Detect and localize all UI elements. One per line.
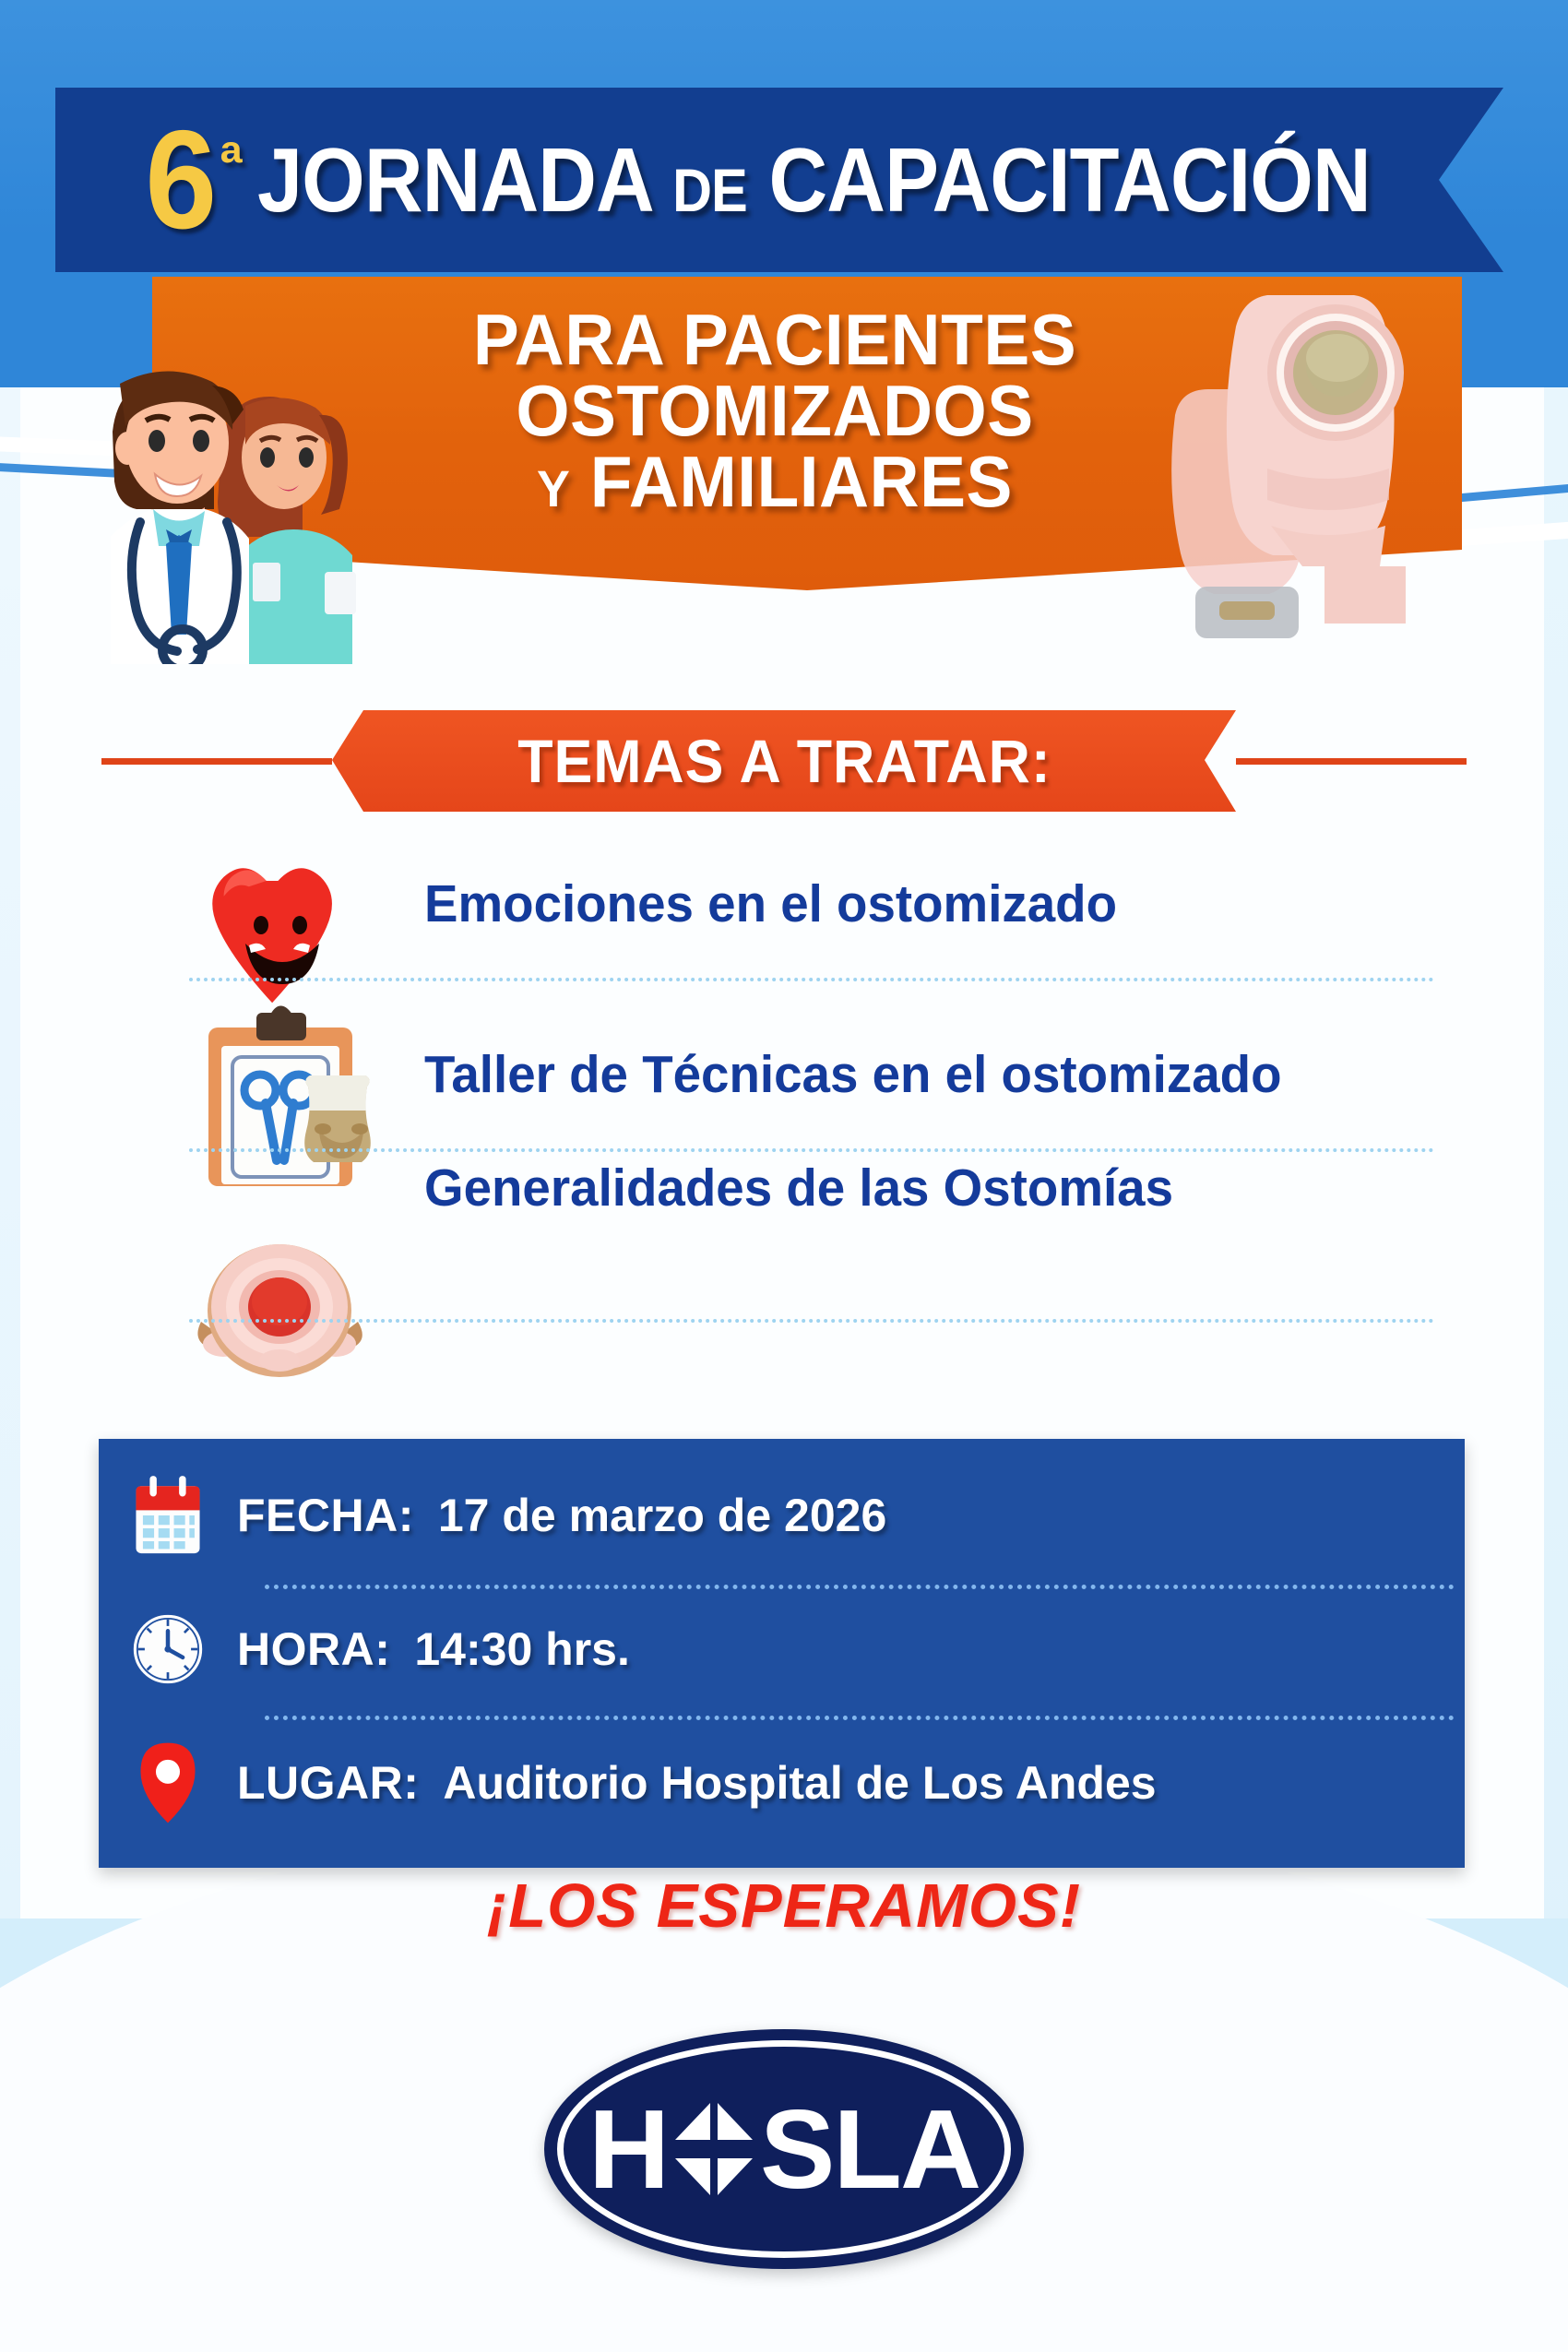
- detail-value-time: 14:30 hrs.: [414, 1622, 629, 1676]
- pinwheel-cross-icon: [670, 2101, 758, 2197]
- ribbon-line-left: [101, 758, 332, 765]
- topics-ribbon-row: TEMAS A TRATAR:: [0, 710, 1568, 812]
- calendar-icon: [99, 1474, 237, 1557]
- header-banner: 6 ª JORNADA DE CAPACITACIÓN: [55, 88, 1503, 272]
- doctor-and-nurse-illustration: [55, 277, 378, 664]
- logo-text-before: H: [588, 2085, 668, 2214]
- detail-label-date: FECHA:: [237, 1489, 414, 1542]
- divider: [189, 978, 1434, 981]
- title-end: CAPACITACIÓN: [768, 129, 1370, 231]
- detail-row-time: HORA: 14:30 hrs.: [99, 1582, 1465, 1716]
- location-pin-icon: [99, 1740, 237, 1826]
- detail-label-place: LUGAR:: [237, 1756, 419, 1810]
- divider: [189, 1148, 1434, 1152]
- detail-value-date: 17 de marzo de 2026: [438, 1489, 886, 1542]
- divider: [189, 1319, 1434, 1323]
- subtitle-line-2: OSTOMIZADOS: [447, 375, 1102, 446]
- clipboard-scissors-icon: [184, 1005, 397, 1181]
- clock-icon: [99, 1610, 237, 1689]
- subtitle-line-3-prefix: Y: [537, 459, 570, 517]
- ordinal-suffix: ª: [220, 133, 243, 194]
- ordinal-number: 6: [145, 120, 217, 241]
- subtitle-text: PARA PACIENTES OSTOMIZADOS Y FAMILIARES: [434, 304, 1116, 518]
- list-item-label: Generalidades de las Ostomías: [424, 1158, 1173, 1218]
- topics-ribbon: TEMAS A TRATAR:: [332, 710, 1236, 812]
- topics-list: Emociones en el ostomizado: [0, 835, 1568, 1425]
- list-item-label: Taller de Técnicas en el ostomizado: [424, 1044, 1282, 1105]
- list-item: Generalidades de las Ostomías: [184, 1176, 1439, 1356]
- stoma-icon: [184, 1222, 397, 1397]
- list-item: Emociones en el ostomizado: [184, 835, 1439, 1015]
- subtitle-line-1: PARA PACIENTES: [447, 304, 1102, 375]
- detail-label-time: HORA:: [237, 1622, 390, 1676]
- subtitle-line-3: Y FAMILIARES: [447, 446, 1102, 517]
- list-item-label: Emociones en el ostomizado: [424, 873, 1117, 934]
- ostomy-pouch-illustration: [1153, 267, 1522, 673]
- subtitle-line-3-main: FAMILIARES: [590, 441, 1013, 522]
- call-to-action-text: ¡LOS ESPERAMOS!: [0, 1871, 1568, 1942]
- title-connector: DE: [672, 156, 747, 224]
- event-details-box: FECHA: 17 de marzo de 2026: [99, 1439, 1465, 1868]
- detail-row-date: FECHA: 17 de marzo de 2026: [99, 1448, 1465, 1582]
- hosla-logo: H SLA: [544, 2029, 1024, 2269]
- ribbon-line-right: [1236, 758, 1467, 765]
- poster-root: 6 ª JORNADA DE CAPACITACIÓN PARA PACIENT…: [0, 0, 1568, 2352]
- topics-ribbon-label: TEMAS A TRATAR:: [517, 726, 1051, 796]
- detail-value-place: Auditorio Hospital de Los Andes: [443, 1756, 1156, 1810]
- logo-text-after: SLA: [760, 2085, 980, 2214]
- title-main: JORNADA: [257, 129, 651, 231]
- logo-wordmark: H SLA: [588, 2085, 980, 2214]
- smiling-heart-icon: [184, 835, 397, 1010]
- detail-row-place: LUGAR: Auditorio Hospital de Los Andes: [99, 1716, 1465, 1849]
- ordinal-badge: 6 ª: [142, 120, 243, 241]
- page-title: JORNADA DE CAPACITACIÓN: [257, 128, 1371, 232]
